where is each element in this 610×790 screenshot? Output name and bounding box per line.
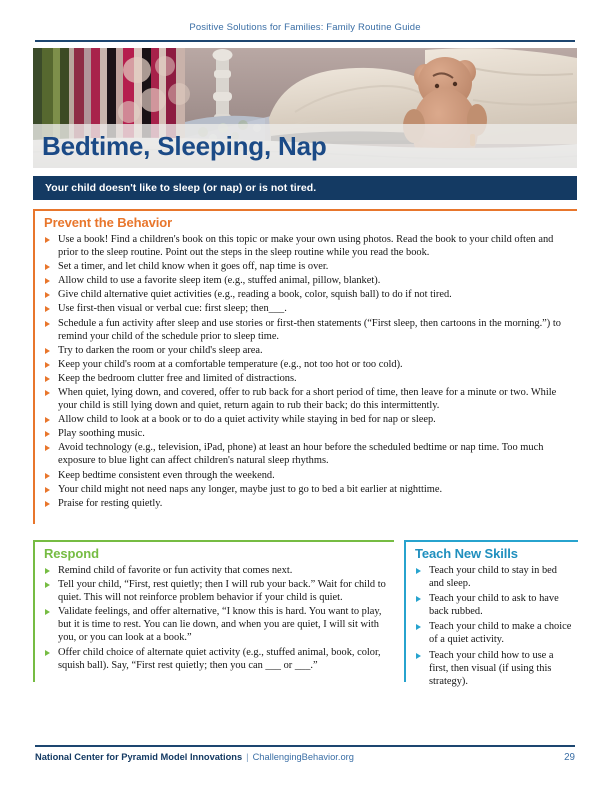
- list-item: Play soothing music.: [44, 427, 573, 440]
- list-item-text: Schedule a fun activity after sleep and …: [58, 318, 561, 342]
- list-item-text: Tell your child, “First, rest quietly; t…: [58, 579, 386, 603]
- behavior-statement-text: Your child doesn't like to sleep (or nap…: [33, 182, 316, 194]
- list-item-text: Keep bedtime consistent even through the…: [58, 470, 275, 481]
- triangle-bullet-icon: [45, 264, 50, 270]
- triangle-bullet-icon: [45, 348, 50, 354]
- triangle-bullet-icon: [45, 445, 50, 451]
- list-item-text: Remind child of favorite or fun activity…: [58, 565, 292, 576]
- list-item-text: Allow child to use a favorite sleep item…: [58, 275, 380, 286]
- triangle-bullet-icon: [45, 237, 50, 243]
- triangle-bullet-icon: [45, 278, 50, 284]
- list-item-text: Praise for resting quietly.: [58, 498, 162, 509]
- triangle-bullet-icon: [45, 376, 50, 382]
- running-head: Positive Solutions for Families: Family …: [0, 22, 610, 33]
- list-item: Schedule a fun activity after sleep and …: [44, 317, 573, 343]
- list-item: Keep your child's room at a comfortable …: [44, 358, 573, 371]
- list-item: Avoid technology (e.g., television, iPad…: [44, 441, 573, 467]
- list-item: Teach your child to ask to have back rub…: [415, 592, 574, 618]
- triangle-bullet-icon: [416, 596, 421, 602]
- list-item: Use a book! Find a children's book on th…: [44, 233, 573, 259]
- banner-title-strip: Bedtime, Sleeping, Nap: [33, 124, 577, 168]
- respond-panel: Respond Remind child of favorite or fun …: [33, 540, 394, 682]
- triangle-bullet-icon: [45, 568, 50, 574]
- list-item-text: Keep your child's room at a comfortable …: [58, 359, 403, 370]
- triangle-bullet-icon: [45, 362, 50, 368]
- list-item-text: Teach your child how to use a first, the…: [429, 650, 554, 687]
- teach-new-skills-panel: Teach New Skills Teach your child to sta…: [404, 540, 578, 682]
- list-item: When quiet, lying down, and covered, off…: [44, 386, 573, 412]
- respond-panel-list: Remind child of favorite or fun activity…: [44, 564, 388, 672]
- list-item-text: Teach your child to make a choice of a q…: [429, 621, 571, 645]
- list-item-text: Your child might not need naps any longe…: [58, 484, 442, 495]
- triangle-bullet-icon: [45, 431, 50, 437]
- list-item-text: Try to darken the room or your child's s…: [58, 345, 263, 356]
- triangle-bullet-icon: [45, 609, 50, 615]
- list-item: Your child might not need naps any longe…: [44, 483, 573, 496]
- triangle-bullet-icon: [45, 390, 50, 396]
- triangle-bullet-icon: [45, 417, 50, 423]
- list-item-text: Set a timer, and let child know when it …: [58, 261, 328, 272]
- triangle-bullet-icon: [416, 653, 421, 659]
- list-item: Teach your child to stay in bed and slee…: [415, 564, 574, 590]
- list-item-text: Allow child to look at a book or to do a…: [58, 414, 436, 425]
- list-item-text: Avoid technology (e.g., television, iPad…: [58, 442, 543, 466]
- list-item-text: Use first-then visual or verbal cue: fir…: [58, 303, 287, 314]
- list-item: Set a timer, and let child know when it …: [44, 260, 573, 273]
- prevent-panel-list: Use a book! Find a children's book on th…: [44, 233, 573, 510]
- footer-separator: |: [242, 752, 252, 762]
- list-item: Praise for resting quietly.: [44, 497, 573, 510]
- triangle-bullet-icon: [45, 501, 50, 507]
- list-item: Offer child choice of alternate quiet ac…: [44, 646, 388, 672]
- list-item: Keep the bedroom clutter free and limite…: [44, 372, 573, 385]
- triangle-bullet-icon: [416, 568, 421, 574]
- page-number: 29: [564, 752, 575, 763]
- triangle-bullet-icon: [45, 321, 50, 327]
- list-item-text: Offer child choice of alternate quiet ac…: [58, 647, 381, 671]
- list-item: Keep bedtime consistent even through the…: [44, 469, 573, 482]
- list-item-text: Validate feelings, and offer alternative…: [58, 606, 381, 643]
- footer-website-link[interactable]: ChallengingBehavior.org: [253, 752, 354, 762]
- header-rule: [35, 40, 575, 42]
- prevent-the-behavior-panel: Prevent the Behavior Use a book! Find a …: [33, 209, 577, 524]
- teach-panel-list: Teach your child to stay in bed and slee…: [415, 564, 574, 688]
- list-item: Use first-then visual or verbal cue: fir…: [44, 302, 573, 315]
- triangle-bullet-icon: [45, 292, 50, 298]
- list-item: Try to darken the room or your child's s…: [44, 344, 573, 357]
- triangle-bullet-icon: [45, 306, 50, 312]
- list-item-text: Use a book! Find a children's book on th…: [58, 234, 553, 258]
- list-item: Tell your child, “First, rest quietly; t…: [44, 578, 388, 604]
- triangle-bullet-icon: [45, 487, 50, 493]
- page-title: Bedtime, Sleeping, Nap: [33, 133, 327, 159]
- list-item: Validate feelings, and offer alternative…: [44, 605, 388, 644]
- footer-rule: [35, 745, 575, 747]
- list-item: Give child alternative quiet activities …: [44, 288, 573, 301]
- list-item-text: Keep the bedroom clutter free and limite…: [58, 373, 297, 384]
- prevent-panel-heading: Prevent the Behavior: [44, 216, 573, 231]
- list-item-text: Teach your child to ask to have back rub…: [429, 593, 559, 617]
- footer: National Center for Pyramid Model Innova…: [35, 752, 575, 763]
- list-item: Teach your child how to use a first, the…: [415, 649, 574, 688]
- list-item-text: Give child alternative quiet activities …: [58, 289, 452, 300]
- list-item: Teach your child to make a choice of a q…: [415, 620, 574, 646]
- triangle-bullet-icon: [45, 473, 50, 479]
- respond-panel-heading: Respond: [44, 547, 388, 562]
- banner-photo: Bedtime, Sleeping, Nap: [33, 48, 577, 168]
- footer-organization: National Center for Pyramid Model Innova…: [35, 752, 242, 762]
- list-item-text: Teach your child to stay in bed and slee…: [429, 565, 557, 589]
- triangle-bullet-icon: [416, 624, 421, 630]
- list-item: Remind child of favorite or fun activity…: [44, 564, 388, 577]
- list-item-text: Play soothing music.: [58, 428, 145, 439]
- triangle-bullet-icon: [45, 650, 50, 656]
- behavior-statement-bar: Your child doesn't like to sleep (or nap…: [33, 176, 577, 200]
- teach-panel-heading: Teach New Skills: [415, 547, 574, 562]
- list-item-text: When quiet, lying down, and covered, off…: [58, 387, 556, 411]
- triangle-bullet-icon: [45, 582, 50, 588]
- list-item: Allow child to look at a book or to do a…: [44, 413, 573, 426]
- list-item: Allow child to use a favorite sleep item…: [44, 274, 573, 287]
